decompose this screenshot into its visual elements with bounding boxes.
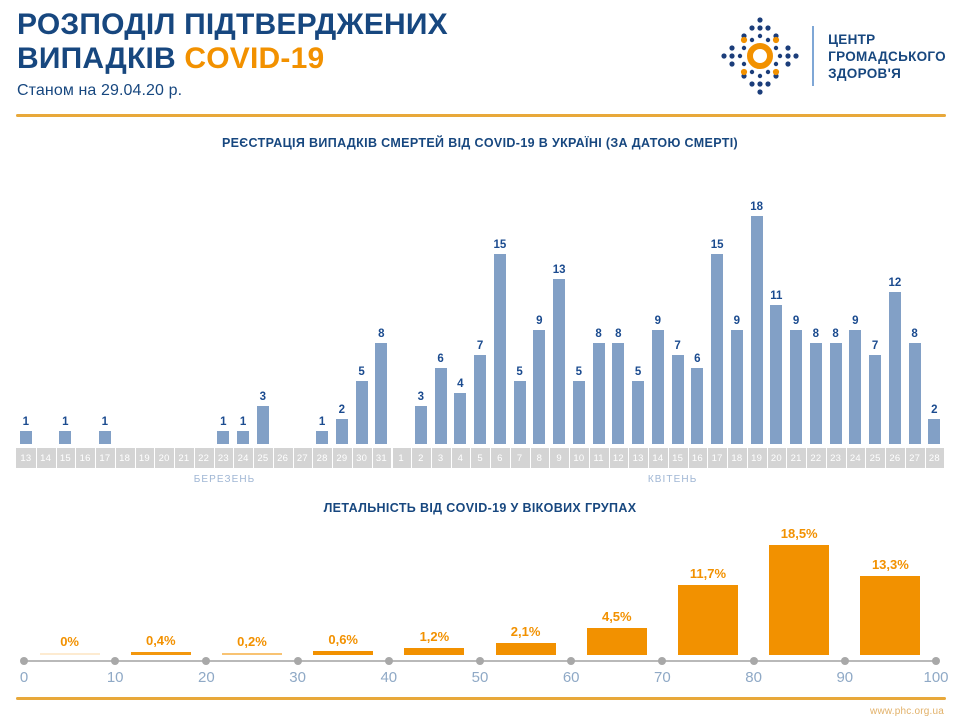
daily-deaths-bar-column: 4 <box>451 164 471 444</box>
axis-tick-dot <box>111 657 119 665</box>
daily-deaths-bar <box>849 330 861 444</box>
date-axis-tick: 24 <box>846 448 866 468</box>
lethality-bar-group: 0,6% <box>313 633 373 655</box>
daily-deaths-bar-column <box>75 164 95 444</box>
daily-deaths-bar-column: 5 <box>352 164 372 444</box>
lethality-bar <box>587 628 647 655</box>
axis-tick-dot <box>294 657 302 665</box>
title-block: РОЗПОДІЛ ПІДТВЕРДЖЕНИХ ВИПАДКІВ COVID-19… <box>17 8 577 100</box>
footer-divider-rule <box>16 697 946 700</box>
daily-deaths-bar-column: 2 <box>332 164 352 444</box>
daily-deaths-chart: РЕЄСТРАЦІЯ ВИПАДКІВ СМЕРТЕЙ ВІД COVID-19… <box>0 128 960 478</box>
daily-deaths-bar <box>99 431 111 444</box>
axis-tick-label: 80 <box>745 669 762 686</box>
bar-value-label: 13 <box>553 264 566 276</box>
lethality-axis-line <box>24 657 936 665</box>
date-axis-tick: 6 <box>490 448 510 468</box>
bar-value-label: 9 <box>793 315 799 327</box>
daily-deaths-bar <box>514 381 526 444</box>
page-title-line-1: РОЗПОДІЛ ПІДТВЕРДЖЕНИХ <box>17 8 577 42</box>
date-axis-tick: 23 <box>826 448 846 468</box>
daily-deaths-bar <box>435 368 447 444</box>
lethality-bar-group: 0,4% <box>131 634 191 656</box>
date-axis-tick: 24 <box>233 448 253 468</box>
daily-deaths-bar <box>612 343 624 444</box>
daily-deaths-bar-column: 5 <box>510 164 530 444</box>
daily-deaths-bar-column <box>36 164 56 444</box>
daily-deaths-bar-column <box>154 164 174 444</box>
daily-deaths-bar-column: 1 <box>56 164 76 444</box>
date-axis-tick: 23 <box>214 448 234 468</box>
daily-deaths-bar <box>711 254 723 444</box>
daily-deaths-bar <box>375 343 387 444</box>
lethality-bar <box>40 653 100 655</box>
lethality-value-label: 2,1% <box>511 625 541 639</box>
date-axis-tick: 10 <box>569 448 589 468</box>
daily-deaths-bar <box>751 216 763 444</box>
axis-tick-label: 30 <box>289 669 306 686</box>
daily-deaths-bar-column: 7 <box>470 164 490 444</box>
page-header: РОЗПОДІЛ ПІДТВЕРДЖЕНИХ ВИПАДКІВ COVID-19… <box>0 0 960 112</box>
lethality-value-label: 1,2% <box>420 630 450 644</box>
date-axis-tick: 15 <box>56 448 76 468</box>
lethality-bar <box>496 643 556 655</box>
daily-deaths-bar-column <box>391 164 411 444</box>
axis-tick-dot <box>202 657 210 665</box>
daily-deaths-bar <box>869 355 881 444</box>
page-title-line-2-plain: ВИПАДКІВ <box>17 42 184 75</box>
date-axis-tick: 9 <box>549 448 569 468</box>
axis-tick-label: 60 <box>563 669 580 686</box>
daily-deaths-bar <box>415 406 427 444</box>
logo-wordmark: ЦЕНТР ГРОМАДСЬКОГО ЗДОРОВ'Я <box>828 31 946 82</box>
date-axis-tick: 20 <box>154 448 174 468</box>
lethality-axis-tick-labels: 0102030405060708090100 <box>24 669 936 689</box>
lethality-bar <box>860 576 920 655</box>
daily-deaths-bar-column: 2 <box>925 164 945 444</box>
bar-value-label: 8 <box>378 328 384 340</box>
bar-value-label: 12 <box>888 277 901 289</box>
date-axis-tick: 28 <box>925 448 945 468</box>
daily-deaths-bar-column: 6 <box>431 164 451 444</box>
daily-deaths-bar-column: 8 <box>372 164 392 444</box>
month-label: КВІТЕНЬ <box>648 474 698 485</box>
date-axis-tick: 12 <box>609 448 629 468</box>
date-axis-tick: 22 <box>194 448 214 468</box>
date-axis-tick: 11 <box>589 448 609 468</box>
daily-deaths-bar-column: 18 <box>747 164 767 444</box>
date-axis-tick: 18 <box>727 448 747 468</box>
lethality-value-label: 13,3% <box>872 558 909 572</box>
lethality-bar <box>131 652 191 656</box>
axis-tick-label: 90 <box>836 669 853 686</box>
daily-deaths-date-axis: 1314151617181920212223242526272829303112… <box>16 448 944 468</box>
bar-value-label: 1 <box>62 416 68 428</box>
date-axis-tick: 26 <box>885 448 905 468</box>
lethality-value-label: 0,2% <box>237 635 267 649</box>
daily-deaths-bars: 1111131258364715591358859761591811988971… <box>16 164 944 444</box>
organization-logo: ЦЕНТР ГРОМАДСЬКОГО ЗДОРОВ'Я <box>718 14 946 98</box>
bar-value-label: 5 <box>576 366 582 378</box>
axis-tick-dot <box>750 657 758 665</box>
axis-tick-dot <box>385 657 393 665</box>
date-axis-tick: 17 <box>95 448 115 468</box>
logo-divider <box>812 26 814 86</box>
date-axis-tick: 25 <box>253 448 273 468</box>
bar-value-label: 8 <box>911 328 917 340</box>
bar-value-label: 3 <box>418 391 424 403</box>
bar-value-label: 18 <box>750 201 763 213</box>
daily-deaths-chart-title: РЕЄСТРАЦІЯ ВИПАДКІВ СМЕРТЕЙ ВІД COVID-19… <box>0 136 960 150</box>
lethality-bar <box>769 545 829 655</box>
bar-value-label: 15 <box>493 239 506 251</box>
page-title-line-2: ВИПАДКІВ COVID-19 <box>17 42 577 76</box>
page-subtitle-date: Станом на 29.04.20 р. <box>17 82 577 100</box>
lethality-bar-group: 18,5% <box>769 527 829 655</box>
page-title-covid-accent: COVID-19 <box>184 42 324 75</box>
bar-value-label: 5 <box>358 366 364 378</box>
phc-logo-icon <box>718 14 802 98</box>
daily-deaths-bar <box>889 292 901 444</box>
bar-value-label: 6 <box>437 353 443 365</box>
daily-deaths-bar <box>217 431 229 444</box>
daily-deaths-bar-column: 6 <box>688 164 708 444</box>
daily-deaths-bar <box>691 368 703 444</box>
daily-deaths-bar <box>909 343 921 444</box>
daily-deaths-bar-column: 11 <box>767 164 787 444</box>
axis-tick-label: 70 <box>654 669 671 686</box>
lethality-bar-group: 2,1% <box>496 625 556 655</box>
daily-deaths-bar-column: 7 <box>668 164 688 444</box>
date-axis-tick: 5 <box>470 448 490 468</box>
daily-deaths-bar <box>257 406 269 444</box>
bar-value-label: 9 <box>655 315 661 327</box>
axis-tick-dot <box>932 657 940 665</box>
date-axis-tick: 4 <box>451 448 471 468</box>
daily-deaths-bar-column <box>273 164 293 444</box>
axis-tick-label: 0 <box>20 669 28 686</box>
daily-deaths-bar-column: 5 <box>628 164 648 444</box>
lethality-bar-group: 13,3% <box>860 558 920 655</box>
daily-deaths-bar-column: 8 <box>589 164 609 444</box>
date-axis-tick: 8 <box>530 448 550 468</box>
daily-deaths-bar <box>454 393 466 444</box>
bar-value-label: 8 <box>615 328 621 340</box>
daily-deaths-bar-column: 3 <box>253 164 273 444</box>
daily-deaths-bar-column <box>293 164 313 444</box>
lethality-value-label: 11,7% <box>690 567 726 581</box>
daily-deaths-bar <box>20 431 32 444</box>
axis-tick-dot <box>476 657 484 665</box>
date-axis-tick: 17 <box>707 448 727 468</box>
daily-deaths-bar-column: 1 <box>16 164 36 444</box>
daily-deaths-bar <box>237 431 249 444</box>
daily-deaths-bar-column: 9 <box>846 164 866 444</box>
date-axis-tick: 3 <box>431 448 451 468</box>
date-axis-tick: 16 <box>688 448 708 468</box>
lethality-by-age-chart: ЛЕТАЛЬНІСТЬ ВІД COVID-19 У ВІКОВИХ ГРУПА… <box>0 495 960 721</box>
date-axis-tick: 16 <box>75 448 95 468</box>
daily-deaths-bar-column: 15 <box>707 164 727 444</box>
bar-value-label: 6 <box>694 353 700 365</box>
daily-deaths-bar <box>770 305 782 444</box>
bar-value-label: 2 <box>339 404 345 416</box>
bar-value-label: 7 <box>477 340 483 352</box>
daily-deaths-bar-column: 12 <box>885 164 905 444</box>
date-axis-tick: 21 <box>174 448 194 468</box>
bar-value-label: 11 <box>770 290 782 302</box>
daily-deaths-bar <box>573 381 585 444</box>
lethality-bars: 0%0,4%0,2%0,6%1,2%2,1%4,5%11,7%18,5%13,3… <box>24 525 936 655</box>
date-axis-tick: 25 <box>865 448 885 468</box>
daily-deaths-bar-column: 13 <box>549 164 569 444</box>
daily-deaths-bar <box>59 431 71 444</box>
bar-value-label: 3 <box>260 391 266 403</box>
axis-tick-label: 50 <box>472 669 489 686</box>
logo-line-2: ГРОМАДСЬКОГО <box>828 48 946 65</box>
lethality-bar-group: 11,7% <box>678 567 738 655</box>
daily-deaths-bar <box>652 330 664 444</box>
daily-deaths-bar-column: 8 <box>806 164 826 444</box>
daily-deaths-bar <box>553 279 565 444</box>
bar-value-label: 1 <box>220 416 226 428</box>
daily-deaths-bar-column <box>135 164 155 444</box>
bar-value-label: 2 <box>931 404 937 416</box>
daily-deaths-bar <box>928 419 940 444</box>
lethality-bar-group: 1,2% <box>404 630 464 655</box>
axis-tick-label: 100 <box>923 669 948 686</box>
daily-deaths-bar <box>790 330 802 444</box>
date-axis-tick: 31 <box>372 448 392 468</box>
daily-deaths-bar-column: 1 <box>214 164 234 444</box>
date-axis-tick: 27 <box>293 448 313 468</box>
lethality-value-label: 4,5% <box>602 610 632 624</box>
daily-deaths-bar-column: 9 <box>530 164 550 444</box>
daily-deaths-bar <box>810 343 822 444</box>
bar-value-label: 5 <box>516 366 522 378</box>
daily-deaths-bar <box>336 419 348 444</box>
logo-line-3: ЗДОРОВ'Я <box>828 65 946 82</box>
date-axis-tick: 13 <box>628 448 648 468</box>
date-axis-tick: 20 <box>767 448 787 468</box>
date-axis-tick: 28 <box>312 448 332 468</box>
lethality-value-label: 18,5% <box>781 527 818 541</box>
daily-deaths-bar <box>632 381 644 444</box>
daily-deaths-bar-column <box>194 164 214 444</box>
date-axis-tick: 14 <box>648 448 668 468</box>
bar-value-label: 9 <box>734 315 740 327</box>
footer-website-url: www.phc.org.ua <box>870 706 944 717</box>
daily-deaths-bar-column: 1 <box>312 164 332 444</box>
daily-deaths-month-labels: БЕРЕЗЕНЬКВІТЕНЬ <box>16 474 944 490</box>
date-axis-tick: 1 <box>391 448 411 468</box>
lethality-bar <box>404 648 464 655</box>
daily-deaths-bar <box>830 343 842 444</box>
date-axis-tick: 26 <box>273 448 293 468</box>
bar-value-label: 1 <box>102 416 108 428</box>
logo-line-1: ЦЕНТР <box>828 31 946 48</box>
lethality-value-label: 0,4% <box>146 634 176 648</box>
daily-deaths-bar <box>593 343 605 444</box>
bar-value-label: 1 <box>23 416 29 428</box>
lethality-bar-group: 4,5% <box>587 610 647 655</box>
date-axis-tick: 27 <box>905 448 925 468</box>
bar-value-label: 1 <box>240 416 246 428</box>
bar-value-label: 4 <box>457 378 463 390</box>
daily-deaths-bar-column: 15 <box>490 164 510 444</box>
date-axis-tick: 18 <box>115 448 135 468</box>
bar-value-label: 8 <box>832 328 838 340</box>
daily-deaths-bar-column: 9 <box>727 164 747 444</box>
axis-tick-dot <box>658 657 666 665</box>
lethality-bar-group: 0,2% <box>222 635 282 656</box>
daily-deaths-bar-column: 8 <box>609 164 629 444</box>
bar-value-label: 7 <box>674 340 680 352</box>
bar-value-label: 15 <box>711 239 724 251</box>
date-axis-tick: 30 <box>352 448 372 468</box>
lethality-bar <box>678 585 738 655</box>
bar-value-label: 5 <box>635 366 641 378</box>
bar-value-label: 7 <box>872 340 878 352</box>
axis-tick-dot <box>20 657 28 665</box>
date-axis-tick: 29 <box>332 448 352 468</box>
daily-deaths-bar-column: 9 <box>786 164 806 444</box>
axis-tick-dot <box>841 657 849 665</box>
daily-deaths-bar-column <box>115 164 135 444</box>
date-axis-tick: 7 <box>510 448 530 468</box>
daily-deaths-bar <box>533 330 545 444</box>
lethality-bar <box>313 651 373 655</box>
lethality-value-label: 0% <box>60 635 79 649</box>
daily-deaths-bar-column: 1 <box>233 164 253 444</box>
daily-deaths-bar-column: 5 <box>569 164 589 444</box>
daily-deaths-bar <box>672 355 684 444</box>
date-axis-tick: 14 <box>36 448 56 468</box>
lethality-chart-title: ЛЕТАЛЬНІСТЬ ВІД COVID-19 У ВІКОВИХ ГРУПА… <box>0 501 960 515</box>
daily-deaths-bar-column: 9 <box>648 164 668 444</box>
daily-deaths-bar-column: 8 <box>826 164 846 444</box>
axis-tick-label: 40 <box>380 669 397 686</box>
month-label: БЕРЕЗЕНЬ <box>194 474 256 485</box>
lethality-bar-group: 0% <box>40 635 100 655</box>
daily-deaths-bar <box>474 355 486 444</box>
daily-deaths-bar <box>356 381 368 444</box>
daily-deaths-bar-column: 7 <box>865 164 885 444</box>
date-axis-tick: 19 <box>135 448 155 468</box>
axis-tick-label: 20 <box>198 669 215 686</box>
bar-value-label: 9 <box>852 315 858 327</box>
axis-tick-dot <box>567 657 575 665</box>
bar-value-label: 9 <box>536 315 542 327</box>
daily-deaths-bar-column: 8 <box>905 164 925 444</box>
bar-value-label: 8 <box>813 328 819 340</box>
daily-deaths-bar-column <box>174 164 194 444</box>
date-axis-tick: 13 <box>16 448 36 468</box>
date-axis-tick: 15 <box>668 448 688 468</box>
daily-deaths-bar <box>316 431 328 444</box>
bar-value-label: 1 <box>319 416 325 428</box>
lethality-bar <box>222 653 282 656</box>
daily-deaths-bar-column: 3 <box>411 164 431 444</box>
bar-value-label: 8 <box>595 328 601 340</box>
date-axis-tick: 21 <box>786 448 806 468</box>
date-axis-tick: 19 <box>747 448 767 468</box>
daily-deaths-bar <box>494 254 506 444</box>
axis-tick-label: 10 <box>107 669 124 686</box>
date-axis-tick: 2 <box>411 448 431 468</box>
date-axis-tick: 22 <box>806 448 826 468</box>
daily-deaths-bar <box>731 330 743 444</box>
lethality-value-label: 0,6% <box>328 633 358 647</box>
daily-deaths-bar-column: 1 <box>95 164 115 444</box>
header-divider-rule <box>16 114 946 117</box>
